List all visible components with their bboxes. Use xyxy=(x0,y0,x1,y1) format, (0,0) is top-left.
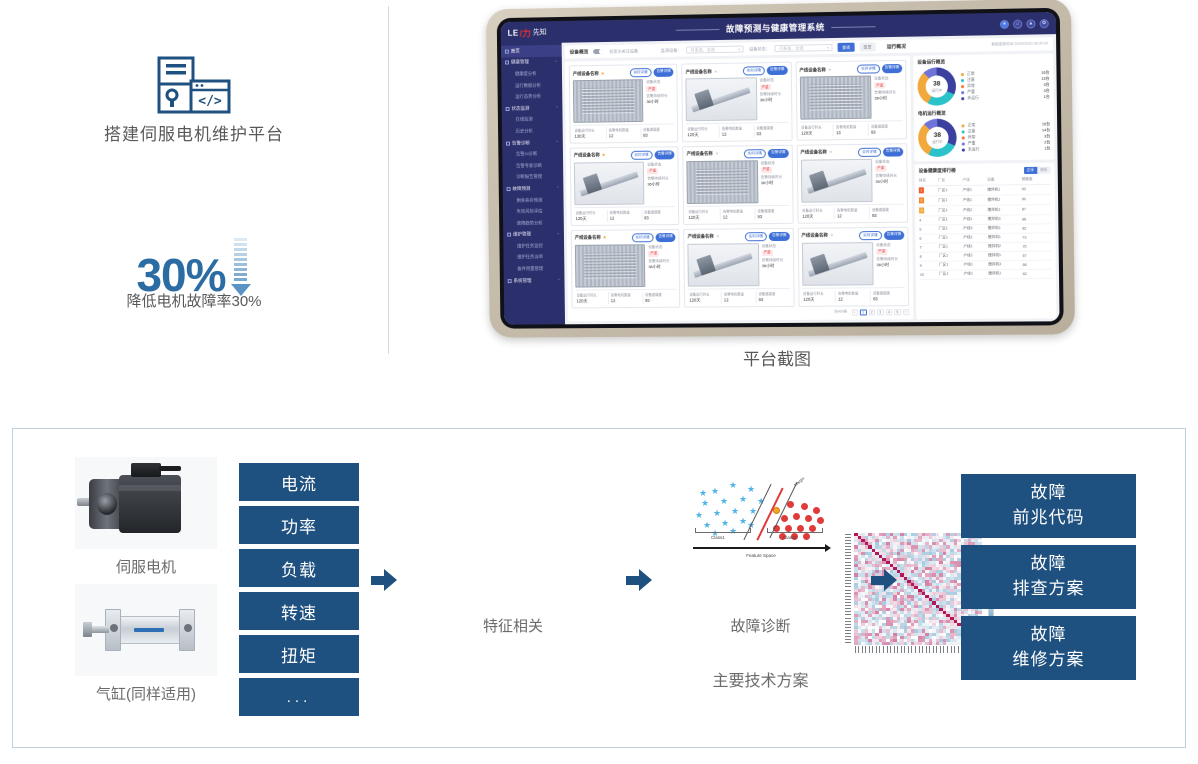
output-line: 故障 xyxy=(1031,623,1067,648)
app-title: 故障预测与健康管理系统 xyxy=(501,17,1056,39)
favorite-star-icon[interactable]: ★ xyxy=(830,233,834,239)
device-card[interactable]: 产线设备名称 ★ 实时详情 告警详情 设备状态 严重 告警持续时长 36小时 设… xyxy=(796,143,908,223)
sidebar-item-label: 首页 xyxy=(511,48,520,54)
alert-icon xyxy=(506,141,510,145)
stat-value: 120天 xyxy=(689,297,721,303)
donut1-legend: 正常 16台 注意 15台 异常 3台 严重 3台 未运行 1台 xyxy=(961,70,1050,102)
medal-icon: 2 xyxy=(919,198,924,204)
status-filter-select[interactable]: 可多选、全选 ▾ xyxy=(775,44,833,52)
device-stat: 告警电机数量 12 xyxy=(607,210,641,222)
page-3-button[interactable]: 3 xyxy=(877,309,884,316)
device-image xyxy=(574,162,645,206)
vertical-divider xyxy=(388,6,389,354)
device-stat: 设备运行时长 130天 xyxy=(573,128,605,140)
stat-value: 120天 xyxy=(801,130,833,136)
device-name: 产线设备名称 xyxy=(573,70,599,76)
factory-cell: 厂区1 xyxy=(939,243,964,252)
sidebar-item-label: 备件用量管理 xyxy=(517,266,543,272)
legend-label: 未运行 xyxy=(967,95,979,100)
legend-value: 14台 xyxy=(1042,128,1050,133)
sidebar-item-11[interactable]: 诊断报告管理 xyxy=(502,171,563,183)
rank-cell: 3 xyxy=(919,206,938,216)
line-cell: 产线3 xyxy=(963,224,988,233)
line-cell: 产线1 xyxy=(963,215,988,224)
ranking-col-header: 排名 xyxy=(919,177,938,186)
line-cell: 产线1 xyxy=(964,260,989,269)
chevron-icon: ⌃ xyxy=(557,232,560,237)
next-page-button[interactable]: › xyxy=(903,309,910,316)
gear-icon[interactable]: ✿ xyxy=(1040,19,1049,28)
legend-value: 16台 xyxy=(1041,70,1049,75)
realtime-detail-button[interactable]: 实时详情 xyxy=(630,150,652,159)
legend-dot-icon xyxy=(962,136,965,139)
medal-icon: 3 xyxy=(919,208,924,214)
device-card[interactable]: 产线设备名称 ★ 实时详情 告警详情 设备状态 严重 告警持续时长 36小时 设… xyxy=(797,226,909,306)
signal-box-0: 电流 xyxy=(239,463,359,501)
device-stat: 设备健康度 93 xyxy=(754,208,789,220)
device-stat: 设备健康度 93 xyxy=(642,292,677,304)
fault-diagnosis-step: ★ ★ ★ ★ ★ ★ ★ ★ ★ ★ ★ ★ ★ ★ ★ ★ ★ xyxy=(673,467,848,636)
rank-cell: 5 xyxy=(919,225,938,234)
device-card[interactable]: 产线设备名称 ★ 实时详情 告警详情 设备状态 严重 告警持续时长 36小时 设… xyxy=(795,60,907,141)
ranking-col-header: 设备 xyxy=(987,176,1021,185)
factory-cell: 厂区1 xyxy=(938,185,963,195)
device-name: 产线设备名称 xyxy=(574,153,600,159)
sidebar[interactable]: 首页健康管理⌃健康度分析运行数据分析运行态势分析状态监测⌃在线监测历史分析告警诊… xyxy=(501,43,565,325)
app-body: 首页健康管理⌃健康度分析运行数据分析运行态势分析状态监测⌃在线监测历史分析告警诊… xyxy=(501,34,1060,325)
legend-dot-icon xyxy=(961,73,964,76)
factory-cell: 厂区1 xyxy=(939,233,964,242)
search-button[interactable]: 查询 xyxy=(838,43,854,52)
duration-value: 36小时 xyxy=(760,97,788,103)
score-cell: 87 xyxy=(1022,204,1051,214)
donut2-title: 电机运行概览 xyxy=(918,111,946,117)
realtime-detail-button[interactable]: 实时详情 xyxy=(857,64,880,73)
device-stat: 设备健康度 93 xyxy=(869,207,904,219)
predict-icon xyxy=(507,187,511,191)
stat-key: 告警电机数量 xyxy=(723,208,755,213)
sidebar-item-12[interactable]: 故障预测⌃ xyxy=(503,183,564,195)
legend-value: 2台 xyxy=(1044,140,1050,145)
device-image xyxy=(688,243,759,287)
signal-box-1: 功率 xyxy=(239,506,359,544)
chevron-icon: ⌃ xyxy=(557,278,560,283)
legend-label: 注意 xyxy=(967,77,975,82)
pagination[interactable]: 共400条 ‹12345› xyxy=(572,309,910,318)
arrow-right-icon-2 xyxy=(626,569,652,591)
sidebar-item-20[interactable]: 系统管理⌃ xyxy=(504,275,565,287)
stat-key: 设备健康度 xyxy=(758,291,790,296)
device-stat: 告警电机数量 12 xyxy=(721,291,756,303)
equipment-cylinder: 气缸(同样适用) xyxy=(75,584,217,704)
alarm-detail-button[interactable]: 告警详情 xyxy=(882,64,903,73)
legend-value: 1台 xyxy=(1044,94,1050,99)
rank-cell: 4 xyxy=(919,216,938,225)
sidebar-item-label: 维护管理 xyxy=(513,232,531,238)
duration-value: 36小时 xyxy=(875,178,903,184)
device-cell: 搅拌机1 xyxy=(988,269,1022,278)
alarm-detail-button[interactable]: 告警详情 xyxy=(767,66,787,75)
device-stat: 设备运行时长 120天 xyxy=(688,291,721,303)
device-stat: 告警电机数量 12 xyxy=(834,207,869,219)
sidebar-item-label: 告警专家诊断 xyxy=(516,163,542,169)
sidebar-item-9[interactable]: 告警AI诊断 xyxy=(502,148,563,160)
score-cell: 67 xyxy=(1022,251,1051,260)
filter2-label: 设备状态： xyxy=(749,46,770,52)
realtime-detail-button[interactable]: 实时详情 xyxy=(745,232,767,241)
device-card[interactable]: 产线设备名称 ★ 实时详情 告警详情 设备状态 严重 告警持续时长 36小时 设… xyxy=(569,64,679,144)
right-pane: 设备运行概览 38 运行中 xyxy=(913,53,1056,319)
line-cell: 产线1 xyxy=(964,270,989,279)
sidebar-item-10[interactable]: 告警专家诊断 xyxy=(502,160,563,172)
alarm-detail-button[interactable]: 告警详情 xyxy=(768,149,788,158)
stat-key: 设备运行时长 xyxy=(802,208,834,213)
legend-value: 3台 xyxy=(1044,88,1050,93)
sidebar-item-label: 系统管理 xyxy=(514,278,532,284)
medal-icon: 1 xyxy=(919,188,924,194)
bell-icon[interactable]: ▲ xyxy=(1026,19,1035,28)
stat-key: 告警电机数量 xyxy=(838,290,870,295)
ranking-body: 1 厂区1 产线1 搅拌机1 93 2 厂区1 产线1 搅拌机2 90 3 厂区… xyxy=(919,184,1052,279)
sidebar-item-label: 剩余寿命预测 xyxy=(516,197,542,203)
rank-cell: 8 xyxy=(920,252,939,261)
sidebar-item-label: 健康度分析 xyxy=(515,71,537,77)
ranking-col-header: 产线 xyxy=(962,176,987,185)
device-name: 产线设备名称 xyxy=(801,233,827,239)
cylinder-caption: 气缸(同样适用) xyxy=(75,683,217,704)
sidebar-item-3[interactable]: 运行数据分析 xyxy=(501,79,562,91)
device-cell: 搅拌机3 xyxy=(988,215,1022,224)
legend-value: 1台 xyxy=(1044,146,1050,151)
technical-solution-panel: 伺服电机 气缸(同样适用) 电流功率负载转速扭矩... xyxy=(12,428,1186,748)
alarm-detail-button[interactable]: 告警详情 xyxy=(769,232,789,241)
output-line: 前兆代码 xyxy=(1013,506,1085,531)
legend-label: 严重 xyxy=(967,89,975,94)
device-name: 产线设备名称 xyxy=(575,235,601,241)
sidebar-item-18[interactable]: 维护任务派单 xyxy=(503,252,564,264)
section-caption: 主要技术方案 xyxy=(673,667,848,691)
realtime-detail-button[interactable]: 实时详情 xyxy=(859,231,882,240)
device-image xyxy=(686,77,757,121)
sort-desc-tab[interactable]: 倒序 xyxy=(1037,167,1051,174)
stat-value: 120天 xyxy=(576,215,607,221)
device-name: 产线设备名称 xyxy=(799,67,825,73)
stat-value: 120天 xyxy=(687,132,719,138)
legend-label: 正常 xyxy=(968,123,976,128)
svm-xlabel: Feature Space xyxy=(687,553,835,558)
donut2-legend: 正常 15台 注意 14台 异常 3台 严重 2台 未运行 1台 xyxy=(961,121,1050,152)
sidebar-item-15[interactable]: 故障趋势分析 xyxy=(503,217,564,229)
page-4-button[interactable]: 4 xyxy=(885,309,892,316)
legend-dot-icon xyxy=(962,142,965,145)
tablet-frame: LE /力 先知 故障预测与健康管理系统 ● ⌂ ▲ ✿ xyxy=(486,0,1075,338)
alarm-detail-button[interactable]: 告警详情 xyxy=(653,68,673,77)
device-filter-select[interactable]: 可多选、全选 ▾ xyxy=(686,46,744,54)
factory-cell: 厂区1 xyxy=(938,215,963,224)
score-cell: 90 xyxy=(1022,194,1051,204)
legend-dot-icon xyxy=(961,91,964,94)
factory-cell: 厂区1 xyxy=(938,224,963,233)
device-stat: 设备健康度 93 xyxy=(755,291,790,303)
stat-key: 设备健康度 xyxy=(872,207,904,212)
line-cell: 产线1 xyxy=(963,242,988,251)
factory-cell: 厂区1 xyxy=(939,261,964,270)
legend-dot-icon xyxy=(962,124,965,127)
score-cell: 73 xyxy=(1022,233,1051,242)
realtime-detail-button[interactable]: 实时详情 xyxy=(744,149,766,158)
rank-cell: 9 xyxy=(920,261,939,270)
device-cards-grid: 产线设备名称 ★ 实时详情 告警详情 设备状态 严重 告警持续时长 36小时 设… xyxy=(569,60,909,308)
device-cell: 搅拌机3 xyxy=(988,260,1022,269)
factory-cell: 厂区1 xyxy=(938,195,963,205)
svm-figure: ★ ★ ★ ★ ★ ★ ★ ★ ★ ★ ★ ★ ★ ★ ★ ★ ★ xyxy=(673,467,848,607)
alarm-detail-button[interactable]: 告警详情 xyxy=(884,230,905,239)
sidebar-item-16[interactable]: 维护管理⌃ xyxy=(503,229,564,241)
sidebar-item-19[interactable]: 备件用量管理 xyxy=(504,263,565,275)
sidebar-item-2[interactable]: 健康度分析 xyxy=(501,68,562,80)
sidebar-item-label: 维护任务监控 xyxy=(517,243,543,249)
duration-value: 36小时 xyxy=(761,180,789,186)
tablet-mockup: LE /力 先知 故障预测与健康管理系统 ● ⌂ ▲ ✿ xyxy=(484,4,1070,336)
favorite-star-icon[interactable]: ★ xyxy=(716,234,720,240)
realtime-detail-button[interactable]: 实时详情 xyxy=(858,147,881,156)
alarm-detail-button[interactable]: 告警详情 xyxy=(655,233,675,242)
device-stat: 告警电机数量 12 xyxy=(719,126,754,138)
sidebar-item-label: 故障预测 xyxy=(512,186,530,192)
stat-value: 12 xyxy=(724,297,756,302)
legend-label: 正常 xyxy=(967,71,975,76)
status-badge: 严重 xyxy=(875,165,886,171)
heart-icon xyxy=(505,61,509,65)
stat-key: 设备健康度 xyxy=(645,292,676,297)
rank-cell: 7 xyxy=(919,243,938,252)
line-cell: 产线1 xyxy=(963,251,988,260)
class2-label: Class2 xyxy=(783,535,797,540)
stat-value: 93 xyxy=(872,212,904,217)
device-card[interactable]: 产线设备名称 ★ 实时详情 告警详情 设备状态 严重 告警持续时长 36小时 设… xyxy=(682,62,793,142)
duration-value: 36小时 xyxy=(762,263,790,269)
sidebar-item-13[interactable]: 剩余寿命预测 xyxy=(503,194,564,206)
factory-cell: 厂区1 xyxy=(938,205,963,215)
output-line: 故障 xyxy=(1031,481,1067,506)
realtime-detail-button[interactable]: 实时详情 xyxy=(631,233,653,242)
stat-key: 设备运行时长 xyxy=(575,210,606,215)
chevron-icon: ⌃ xyxy=(555,60,558,65)
status-badge: 严重 xyxy=(646,86,657,92)
chevron-icon: ⌃ xyxy=(556,186,559,191)
arrow-right-icon-3 xyxy=(871,569,897,591)
stat-value: 120天 xyxy=(688,214,720,220)
device-image xyxy=(801,159,873,203)
device-card[interactable]: 产线设备名称 ★ 实时详情 告警详情 设备状态 严重 告警持续时长 36小时 设… xyxy=(683,145,794,225)
legend-value: 15台 xyxy=(1042,122,1050,127)
stat-value: 93 xyxy=(644,215,675,220)
signal-box-4: 扭矩 xyxy=(239,635,359,673)
device-stat: 告警电机数量 12 xyxy=(608,292,642,304)
stat-value: 13 xyxy=(836,130,868,135)
legend-value: 15台 xyxy=(1041,76,1049,81)
device-cell: 搅拌机1 xyxy=(988,224,1022,233)
signal-box-3: 转速 xyxy=(239,592,359,630)
score-cell: 66 xyxy=(1023,260,1052,269)
stat-value: 93 xyxy=(757,214,789,219)
favorite-star-icon[interactable]: ★ xyxy=(828,67,832,73)
sidebar-item-8[interactable]: 告警诊断⌃ xyxy=(502,137,563,149)
status-badge: 严重 xyxy=(647,168,658,174)
device-image xyxy=(687,160,758,204)
rank-cell: 10 xyxy=(920,270,939,279)
wrench-icon xyxy=(507,233,511,237)
legend-dot-icon xyxy=(961,79,964,82)
score-cell: 93 xyxy=(1022,184,1051,194)
ranking-col-header: 厂区 xyxy=(938,176,963,185)
output-box-2: 故障维修方案 xyxy=(961,616,1136,680)
home-icon[interactable]: ⌂ xyxy=(1013,19,1022,28)
stat-key: 告警电机数量 xyxy=(724,291,756,296)
sidebar-item-17[interactable]: 维护任务监控 xyxy=(503,240,564,252)
line-cell: 产线2 xyxy=(963,205,988,215)
rank-cell: 1 xyxy=(919,185,938,195)
device-image xyxy=(802,242,874,286)
device-card[interactable]: 产线设备名称 ★ 实时详情 告警详情 设备状态 严重 告警持续时长 36小时 设… xyxy=(684,227,795,307)
table-row[interactable]: 10 厂区1 产线1 搅拌机1 62 xyxy=(920,269,1052,279)
stat-key: 设备健康度 xyxy=(644,209,675,214)
reset-button[interactable]: 重置 xyxy=(859,43,875,52)
equipment-servo-motor: 伺服电机 xyxy=(75,457,217,577)
home-icon xyxy=(505,49,509,53)
stat-key: 设备运行时长 xyxy=(689,291,721,296)
stat-value: 120天 xyxy=(802,213,834,219)
donut1-title: 设备运行概览 xyxy=(917,59,945,65)
status-badge: 严重 xyxy=(648,251,659,257)
sidebar-item-label: 告警AI诊断 xyxy=(516,151,537,157)
stat-key: 设备运行时长 xyxy=(803,291,835,296)
app-title-text: 故障预测与健康管理系统 xyxy=(726,22,825,34)
stat-key: 告警电机数量 xyxy=(610,210,641,215)
donut2-chart: 38 运行中 xyxy=(918,118,957,157)
device-card[interactable]: 产线设备名称 ★ 实时详情 告警详情 设备状态 严重 告警持续时长 36小时 设… xyxy=(570,146,680,226)
stat-key: 设备运行时长 xyxy=(688,209,720,214)
device-stat: 告警电机数量 12 xyxy=(720,208,755,220)
sidebar-item-14[interactable]: 失效风险评估 xyxy=(503,206,564,218)
realtime-detail-button[interactable]: 实时详情 xyxy=(629,68,651,77)
svm-plot: ★ ★ ★ ★ ★ ★ ★ ★ ★ ★ ★ ★ ★ ★ ★ ★ ★ xyxy=(687,473,835,569)
duration-value: 36小时 xyxy=(647,181,675,187)
legend-dot-icon xyxy=(961,97,964,100)
favorite-star-icon[interactable]: ★ xyxy=(602,153,606,159)
heatmap-caption: 特征相关 xyxy=(418,615,608,636)
rank-cell: 6 xyxy=(919,234,938,243)
device-card[interactable]: 产线设备名称 ★ 实时详情 告警详情 设备状态 严重 告警持续时长 36小时 设… xyxy=(571,229,681,308)
favorite-star-icon[interactable]: ★ xyxy=(601,70,605,76)
alarm-detail-button[interactable]: 告警详情 xyxy=(883,147,904,156)
factory-cell: 厂区1 xyxy=(939,270,964,279)
duration-value: 36小时 xyxy=(648,264,676,270)
main-content: 设备概览 仅显示关注设备 监测设备： 可多选、全选 ▾ 设备状态： xyxy=(562,34,1060,324)
down-arrow-icon xyxy=(230,238,252,296)
total-count: 共400条 xyxy=(834,310,847,315)
sidebar-item-7[interactable]: 历史分析 xyxy=(502,125,563,137)
output-line: 排查方案 xyxy=(1013,577,1085,602)
sidebar-item-4[interactable]: 运行态势分析 xyxy=(502,91,563,103)
device-stat: 设备运行时长 120天 xyxy=(802,291,835,303)
favorites-toggle[interactable] xyxy=(593,49,604,55)
favorite-star-icon[interactable]: ★ xyxy=(603,235,607,241)
signal-box-2: 负载 xyxy=(239,549,359,587)
device-name: 产线设备名称 xyxy=(688,234,714,240)
stat-value: 93 xyxy=(873,296,905,301)
device-stat: 设备运行时长 120天 xyxy=(801,208,834,220)
sort-asc-tab[interactable]: 正序 xyxy=(1024,167,1038,174)
chevron-down-icon: ▾ xyxy=(827,46,829,50)
device-stat: 告警电机数量 12 xyxy=(606,127,640,139)
rank-cell: 2 xyxy=(919,195,938,205)
stat-value: 12 xyxy=(722,131,754,136)
heatmap-figure xyxy=(418,467,608,607)
sidebar-item-1[interactable]: 健康管理⌃ xyxy=(501,56,562,68)
output-box-0: 故障前兆代码 xyxy=(961,474,1136,538)
realtime-detail-button[interactable]: 实时详情 xyxy=(743,66,765,75)
legend-value: 3台 xyxy=(1043,82,1049,87)
device-cell: 搅拌机2 xyxy=(987,195,1021,205)
donut1-chart: 38 运行中 xyxy=(917,67,956,106)
sidebar-item-label: 故障趋势分析 xyxy=(517,220,543,226)
favorite-star-icon[interactable]: ★ xyxy=(714,68,718,74)
sidebar-item-6[interactable]: 在线监测 xyxy=(502,114,563,126)
device-image xyxy=(800,75,872,120)
status-badge: 严重 xyxy=(761,167,772,173)
device-cell: 搅拌机1 xyxy=(987,184,1021,194)
overview-label: 设备概览 xyxy=(570,48,589,55)
servo-motor-caption: 伺服电机 xyxy=(75,556,217,577)
stat-block: 30% xyxy=(0,238,388,298)
margin-label: Margin xyxy=(793,476,806,488)
device-stat: 设备健康度 93 xyxy=(870,290,905,302)
legend-dot-icon xyxy=(962,148,965,151)
run-overview-box: 设备运行概览 38 运行中 xyxy=(913,53,1054,161)
line-cell: 产线1 xyxy=(963,195,988,205)
update-time: 数据更新时间 2020/05/20 08:30:00 xyxy=(991,41,1048,47)
stat-key: 告警电机数量 xyxy=(611,292,642,297)
device-image xyxy=(573,79,644,123)
signal-list: 电流功率负载转速扭矩... xyxy=(239,463,359,721)
user-icon[interactable]: ● xyxy=(1000,19,1009,28)
sidebar-item-5[interactable]: 状态监测⌃ xyxy=(502,102,563,114)
ranking-sort-tabs[interactable]: 正序 倒序 xyxy=(1024,167,1051,174)
ranking-title: 设备健康度排行榜 xyxy=(919,168,956,174)
page-5-button[interactable]: 5 xyxy=(894,309,901,316)
donut1-row: 38 运行中 正常 16台 注意 15台 xyxy=(917,66,1049,106)
status-badge: 严重 xyxy=(874,82,885,88)
stat-caption: 降低电机故障率30% xyxy=(0,290,388,311)
device-cell: 搅拌机2 xyxy=(988,242,1022,251)
favorite-star-icon[interactable]: ★ xyxy=(829,150,833,156)
legend-label: 严重 xyxy=(968,141,976,146)
line-cell: 产线1 xyxy=(963,185,988,195)
prev-page-button[interactable]: ‹ xyxy=(851,309,858,316)
donut1-label: 运行中 xyxy=(932,87,942,92)
filter1-label: 监测设备： xyxy=(661,47,682,53)
sidebar-item-label: 状态监测 xyxy=(511,105,529,111)
device-stat: 设备运行时长 120天 xyxy=(575,292,607,304)
page-1-button[interactable]: 1 xyxy=(860,309,867,316)
page-2-button[interactable]: 2 xyxy=(868,309,875,316)
favorite-star-icon[interactable]: ★ xyxy=(715,151,719,157)
legend-dot-icon xyxy=(962,130,965,133)
sidebar-item-label: 运行数据分析 xyxy=(515,82,541,88)
alarm-detail-button[interactable]: 告警详情 xyxy=(654,150,674,159)
stat-value: 12 xyxy=(611,297,642,302)
